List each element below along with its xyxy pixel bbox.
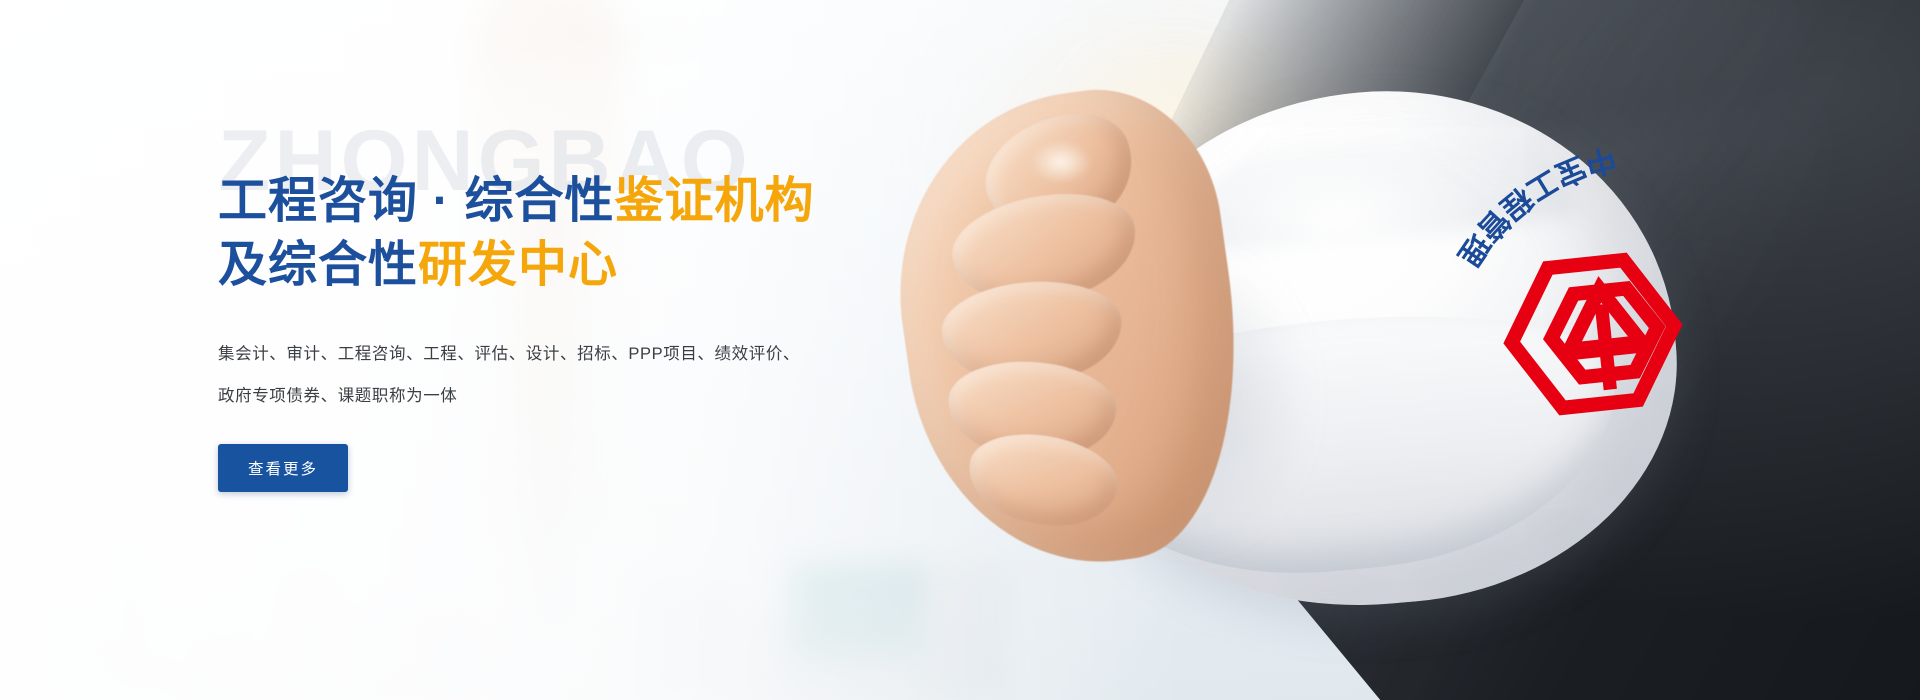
page-title: 工程咨询 · 综合性鉴证机构 及综合性研发中心	[218, 118, 978, 297]
fingernail-highlight	[1030, 140, 1092, 184]
description-line-1: 集会计、审计、工程咨询、工程、评估、设计、招标、PPP项目、绩效评价、	[218, 333, 808, 375]
hero-copy: ZHONGBAO 工程咨询 · 综合性鉴证机构 及综合性研发中心 集会计、审计、…	[218, 118, 978, 492]
headline-line-2: 及综合性研发中心	[218, 238, 618, 292]
hero-description: 集会计、审计、工程咨询、工程、评估、设计、招标、PPP项目、绩效评价、 政府专项…	[218, 333, 808, 417]
headline-line2-accent: 研发中心	[418, 238, 618, 292]
headline-line1-accent: 鉴证机构	[615, 174, 815, 228]
headline-line1-blue: 工程咨询 · 综合性	[218, 174, 615, 228]
headline-line2-blue: 及综合性	[218, 238, 418, 292]
hero-banner: 中宝工程管理 ZHONGBAO 工程咨询 · 综合性鉴证机构 及综合性研发中心 …	[0, 0, 1920, 700]
headline-line-1: 工程咨询 · 综合性鉴证机构	[218, 174, 815, 228]
company-logo-icon	[1490, 239, 1697, 430]
view-more-button[interactable]: 查看更多	[218, 444, 348, 492]
description-line-2: 政府专项债券、课题职称为一体	[218, 375, 808, 417]
